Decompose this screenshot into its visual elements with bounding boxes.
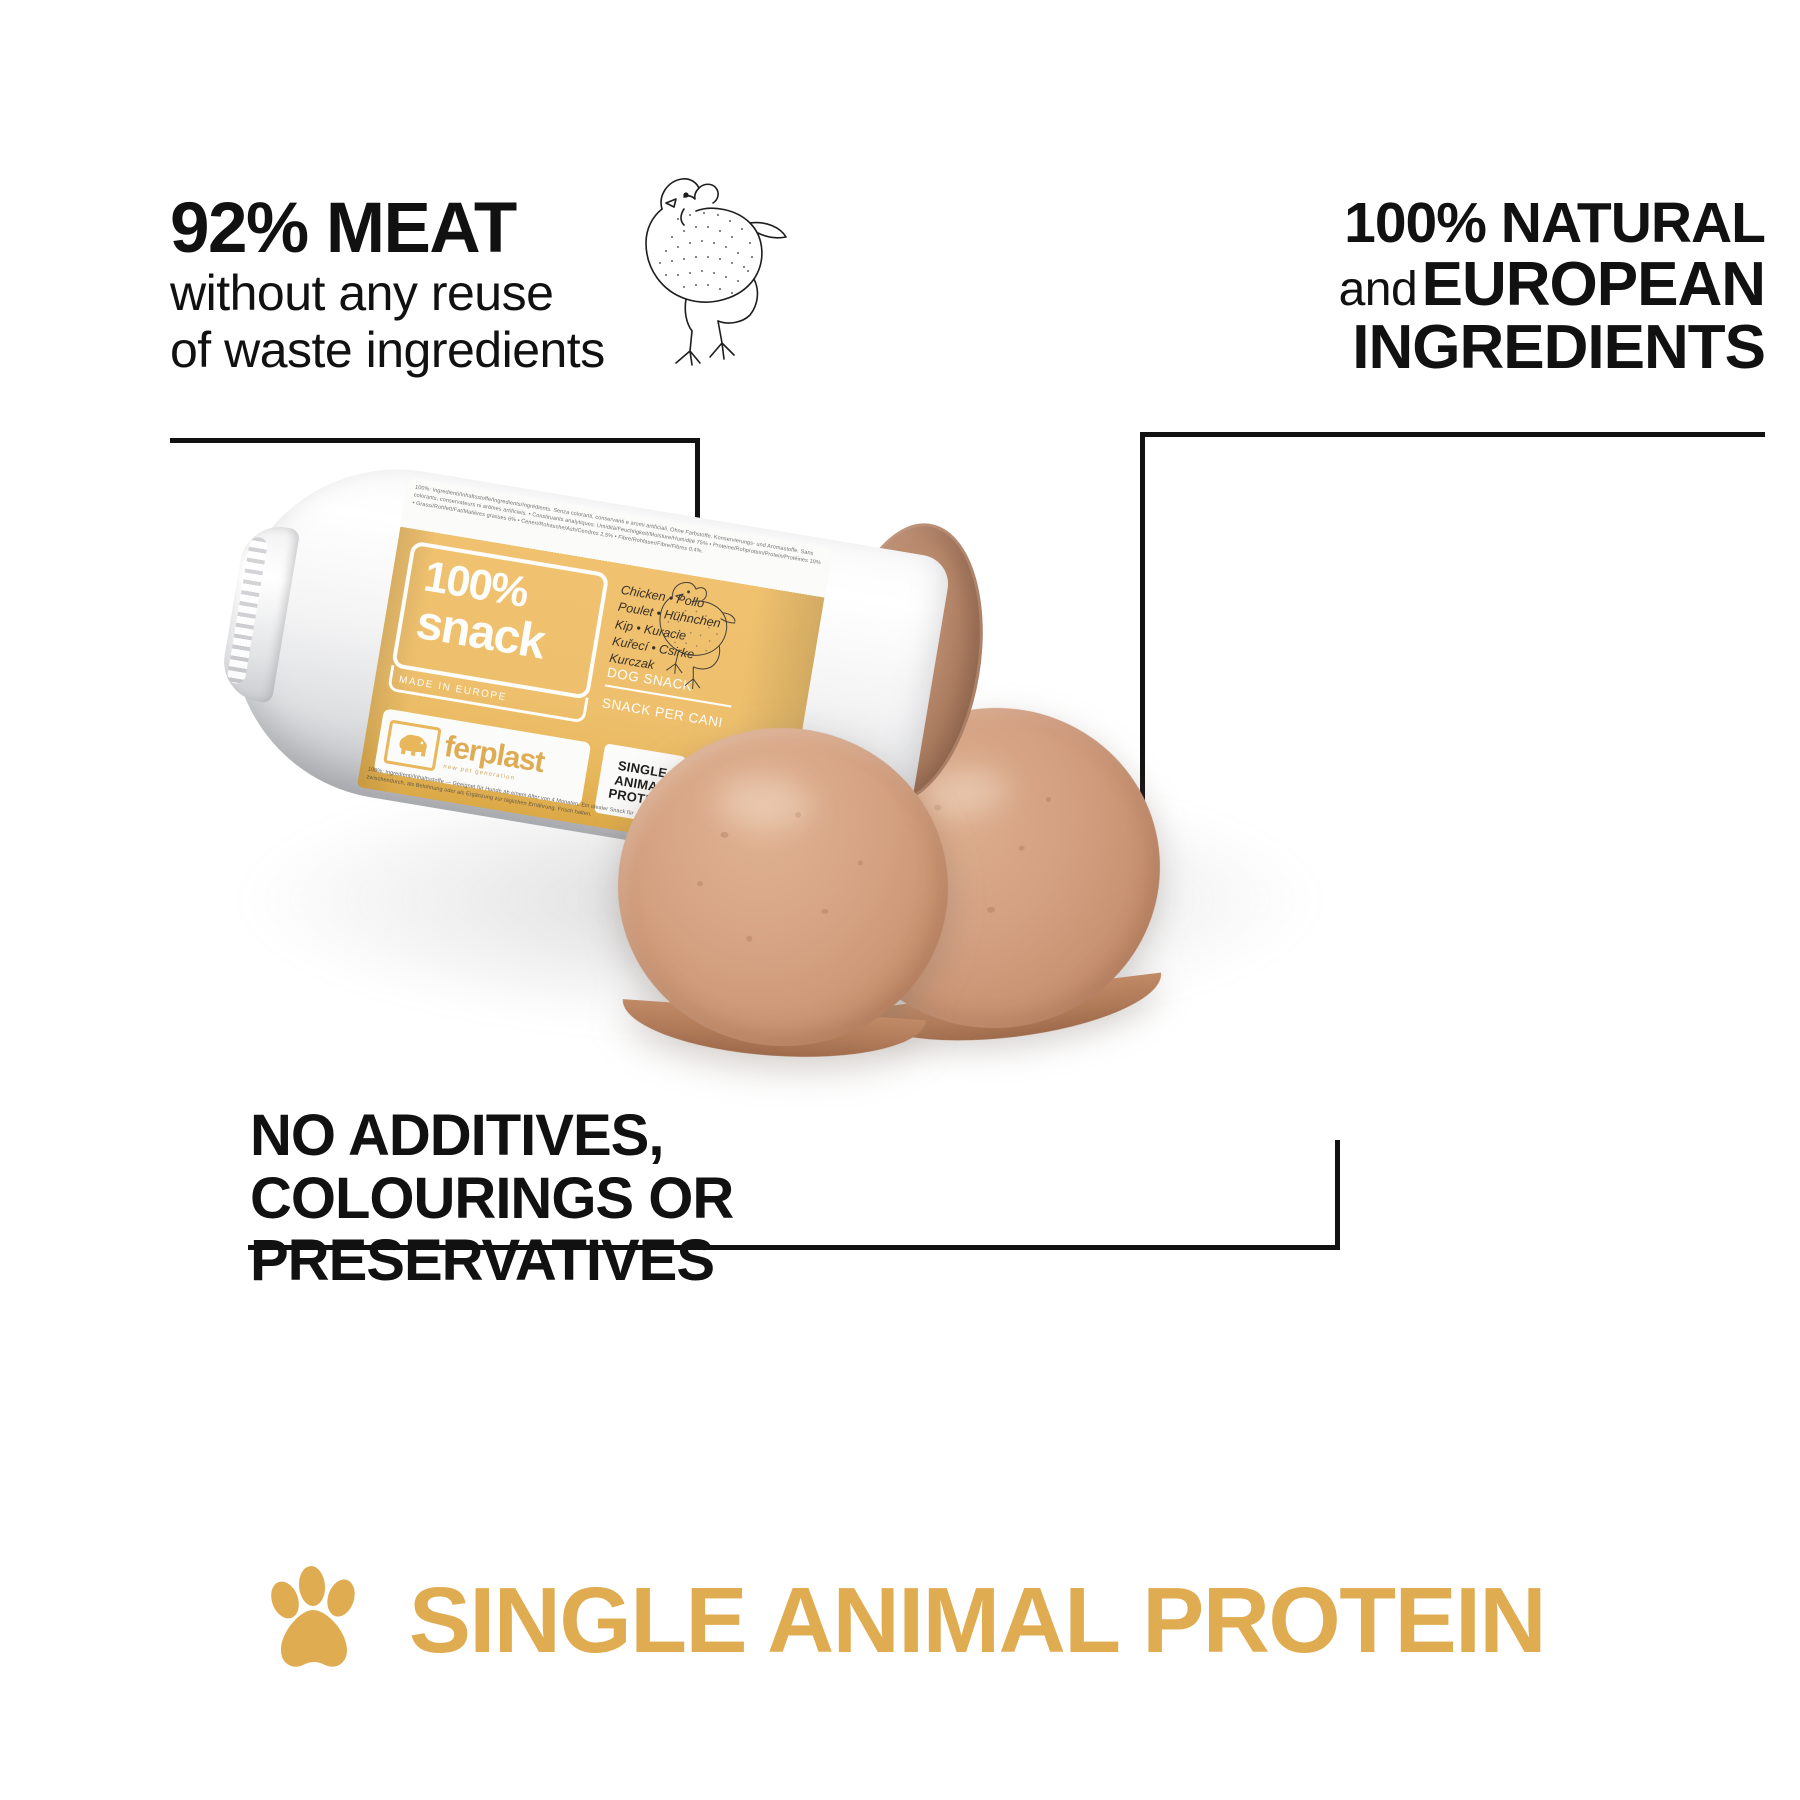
natural-line2-and: and [1339,263,1418,316]
no-additives-line1: NO ADDITIVES, [250,1105,1180,1168]
label-chicken-illustration-icon [627,570,741,702]
callout-no-additives: NO ADDITIVES, COLOURINGS OR PRESERVATIVE… [250,1105,1180,1293]
callout-leader-bottom-left [1335,1140,1340,1250]
label-snack-word: snack [413,599,548,668]
callout-rule-top-right [1140,432,1765,437]
natural-line2: and EUROPEAN [1245,254,1765,316]
product-photo: 100%: Ingredienti/Inhaltsstoffe/Ingredie… [230,470,1330,1110]
natural-line3: INGREDIENTS [1245,316,1765,379]
natural-line1: 100% NATURAL [1245,195,1765,252]
chicken-illustration-icon [600,165,790,375]
bottom-banner: SINGLE ANIMAL PROTEIN [0,1560,1800,1680]
poster-canvas: 92% MEAT without any reuse of waste ingr… [0,0,1800,1800]
paw-print-icon [255,1560,375,1680]
ferplast-dog-icon [383,719,442,771]
callout-rule-bottom-left [248,1245,1340,1250]
callout-natural-ingredients: 100% NATURAL and EUROPEAN INGREDIENTS [1245,195,1765,379]
natural-line2-european: EUROPEAN [1422,250,1765,319]
callout-rule-top-left [170,438,700,443]
no-additives-line2: COLOURINGS OR PRESERVATIVES [250,1168,1180,1293]
banner-text: SINGLE ANIMAL PROTEIN [409,1574,1545,1667]
